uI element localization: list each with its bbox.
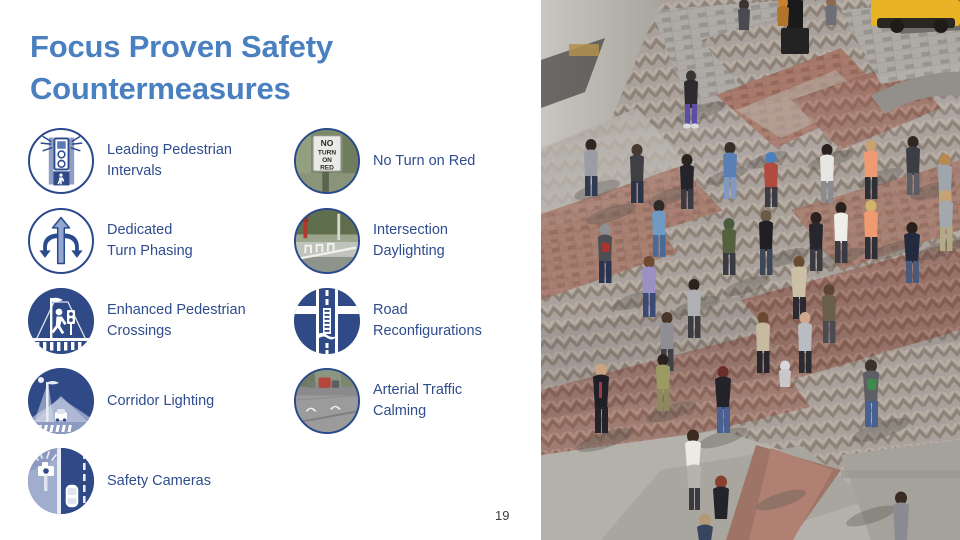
label-line-1: Dedicated [107, 222, 172, 238]
road-diet-lanes-icon [294, 288, 360, 354]
three-way-turn-arrows-icon [28, 208, 94, 274]
label-line-2: Daylighting [373, 241, 448, 262]
label-line-2: Crossings [107, 321, 246, 342]
label-line-2: Calming [373, 401, 462, 422]
countermeasure-label: Safety Cameras [107, 471, 211, 492]
label-line-1: Intersection [373, 222, 448, 238]
countermeasure-item-no-turn-on-red[interactable]: NO TURN ON RED No Turn on Red [294, 128, 475, 194]
label-line-1: Safety Cameras [107, 473, 211, 489]
no-turn-on-red-sign-icon: NO TURN ON RED [294, 128, 360, 194]
streetlight-roadway-icon [28, 368, 94, 434]
label-line-1: Corridor Lighting [107, 393, 214, 409]
curb-bike-rack-photo-icon [294, 208, 360, 274]
left-content-pane: Focus Proven Safety Countermeasures [0, 0, 541, 540]
countermeasure-label: Dedicated Turn Phasing [107, 220, 193, 261]
countermeasure-label: Road Reconfigurations [373, 300, 482, 341]
countermeasure-label: Leading Pedestrian Intervals [107, 140, 232, 181]
label-line-2: Reconfigurations [373, 321, 482, 342]
page-title-line-2: Countermeasures [30, 71, 291, 106]
countermeasure-item-arterial-traffic-calming[interactable]: Arterial Traffic Calming [294, 368, 462, 434]
countermeasure-label: Enhanced Pedestrian Crossings [107, 300, 246, 341]
countermeasure-item-corridor-lighting[interactable]: Corridor Lighting [28, 368, 214, 434]
countermeasure-item-safety-cameras[interactable]: Safety Cameras [28, 448, 211, 514]
svg-text:NO: NO [321, 138, 334, 148]
page-title-line-1: Focus Proven Safety [30, 29, 333, 64]
countermeasure-label: Intersection Daylighting [373, 220, 448, 261]
traffic-signal-pedestrian-icon [28, 128, 94, 194]
pedestrian-crosswalk-beacon-icon [28, 288, 94, 354]
label-line-1: Arterial Traffic [373, 382, 462, 398]
label-line-1: Road [373, 302, 408, 318]
speed-cushion-street-photo-icon [294, 368, 360, 434]
countermeasure-item-road-reconfigurations[interactable]: Road Reconfigurations [294, 288, 482, 354]
countermeasure-item-intersection-daylighting[interactable]: Intersection Daylighting [294, 208, 448, 274]
label-line-1: Enhanced Pedestrian [107, 302, 246, 318]
countermeasure-label: Arterial Traffic Calming [373, 380, 462, 421]
svg-text:RED: RED [320, 164, 334, 171]
svg-text:TURN: TURN [318, 149, 336, 156]
speed-camera-roadway-icon [28, 448, 94, 514]
countermeasure-item-enhanced-pedestrian-crossings[interactable]: Enhanced Pedestrian Crossings [28, 288, 246, 354]
label-line-2: Turn Phasing [107, 241, 193, 262]
countermeasure-label: No Turn on Red [373, 151, 475, 172]
svg-text:ON: ON [322, 157, 332, 164]
label-line-2: Intervals [107, 161, 232, 182]
label-line-1: No Turn on Red [373, 153, 475, 169]
page-number: 19 [495, 508, 509, 523]
slide-root: Focus Proven Safety Countermeasures [0, 0, 960, 540]
countermeasure-item-leading-pedestrian-intervals[interactable]: Leading Pedestrian Intervals [28, 128, 232, 194]
plaza-crowd-photo [541, 0, 960, 540]
countermeasure-item-dedicated-turn-phasing[interactable]: Dedicated Turn Phasing [28, 208, 193, 274]
countermeasure-label: Corridor Lighting [107, 391, 214, 412]
label-line-1: Leading Pedestrian [107, 142, 232, 158]
page-title: Focus Proven Safety Countermeasures [30, 26, 490, 109]
